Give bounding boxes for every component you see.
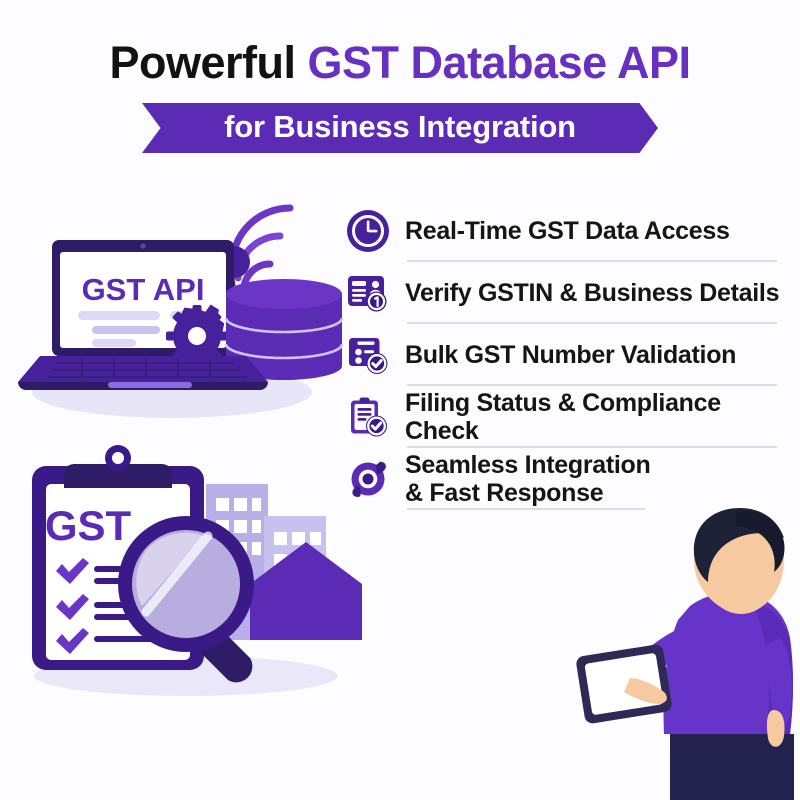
laptop-screen-text: GST API <box>82 272 205 307</box>
feature-label: Filing Status & Compliance Check <box>405 389 795 445</box>
feature-label: Bulk GST Number Validation <box>405 341 736 369</box>
header: Powerful GST Database API for Business I… <box>0 0 800 170</box>
keyboard-keys <box>48 359 246 379</box>
title-plain-part: Powerful <box>110 37 308 88</box>
person-with-tablet-illustration <box>566 498 800 800</box>
ribbon-label: for Business Integration <box>224 109 576 147</box>
feature-label: Real-Time GST Data Access <box>405 217 730 245</box>
subtitle-ribbon: for Business Integration <box>142 103 658 153</box>
person-forearm-right <box>767 710 785 747</box>
feature-item-real-time[interactable]: Real-Time GST Data Access <box>345 200 795 262</box>
infographic-canvas: Powerful GST Database API for Business I… <box>0 0 800 800</box>
feature-item-verify-gstin[interactable]: Verify GSTIN & Business Details <box>345 262 795 324</box>
feature-item-bulk-validation[interactable]: Bulk GST Number Validation <box>345 324 795 386</box>
clipboard-search-illustration: GST <box>18 428 368 698</box>
feature-item-filing-status[interactable]: Filing Status & Compliance Check <box>345 386 795 448</box>
tablet <box>575 644 673 725</box>
title-accent-part: GST Database API <box>308 37 691 88</box>
clipboard-text: GST <box>45 502 132 549</box>
trackpad <box>108 382 192 388</box>
ribbon-banner-shape: for Business Integration <box>142 103 658 153</box>
feature-list: Real-Time GST Data Access Ver <box>345 200 795 510</box>
laptop-api-illustration: GST API <box>22 196 352 426</box>
webcam-dot <box>140 243 145 248</box>
feature-label: Verify GSTIN & Business Details <box>405 279 779 307</box>
page-title: Powerful GST Database API <box>0 38 800 88</box>
